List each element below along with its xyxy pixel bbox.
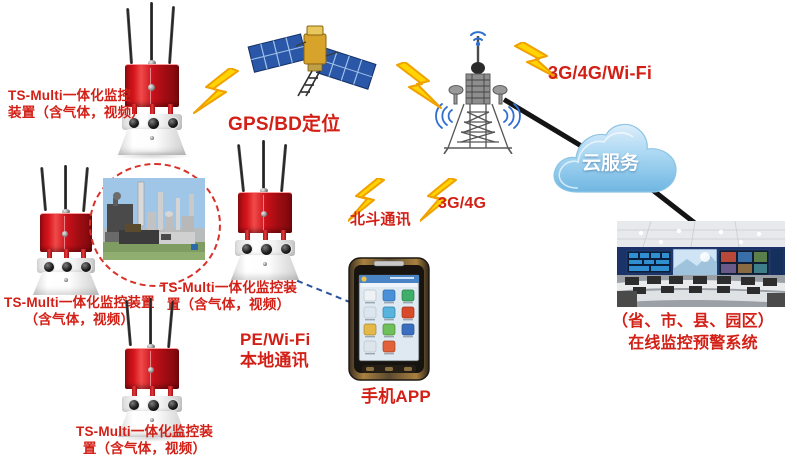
local-comm-line1: PE/Wi-Fi bbox=[240, 329, 310, 350]
cloud-icon: 云服务 bbox=[548, 118, 688, 202]
control-room-photo bbox=[617, 221, 785, 307]
local-comm-line2: 本地通讯 bbox=[240, 350, 310, 371]
phone-app-label: 手机APP bbox=[361, 386, 431, 407]
device-top-label-line1: TS-Multi一体化监控 bbox=[8, 88, 145, 105]
beidou-label: 北斗通讯 bbox=[350, 211, 411, 230]
mobile-3g4g-label: 3G/4G bbox=[438, 194, 486, 214]
device-top-label: TS-Multi一体化监控 装置（含气体，视频） bbox=[8, 88, 145, 122]
device-bottom-label: TS-Multi一体化监控装 置（含气体，视频） bbox=[76, 424, 213, 458]
device-top-label-line2: 装置（含气体，视频） bbox=[8, 105, 145, 122]
device-bottom bbox=[105, 298, 201, 428]
local-comm-label: PE/Wi-Fi 本地通讯 bbox=[240, 329, 310, 372]
control-center-line1: （省、市、县、园区） bbox=[612, 311, 774, 333]
mobile-3g4g-wifi-label: 3G/4G/Wi-Fi bbox=[548, 62, 652, 85]
satellite-icon bbox=[246, 12, 378, 98]
device-bottom-label-line1: TS-Multi一体化监控装 bbox=[76, 424, 213, 441]
refinery-plant-photo bbox=[103, 178, 205, 260]
control-center-label: （省、市、县、园区） 在线监控预警系统 bbox=[612, 311, 774, 354]
device-middle bbox=[218, 140, 314, 274]
diagram-canvas: 云服务 TS-Multi一体化监控 装置（含气体，视频） bbox=[0, 0, 797, 464]
rugged-handheld-device[interactable] bbox=[348, 257, 430, 381]
control-center-line2: 在线监控预警系统 bbox=[612, 333, 774, 355]
lightning-bolt-satellite-to-tower bbox=[383, 62, 445, 112]
device-middle-label-line1: TS-Multi一体化监控装 bbox=[160, 280, 297, 297]
device-top bbox=[106, 2, 202, 160]
device-bottom-label-line2: 置（含气体，视频） bbox=[76, 441, 213, 458]
gps-label: GPS/BD定位 bbox=[228, 113, 340, 137]
cloud-label: 云服务 bbox=[582, 148, 639, 175]
